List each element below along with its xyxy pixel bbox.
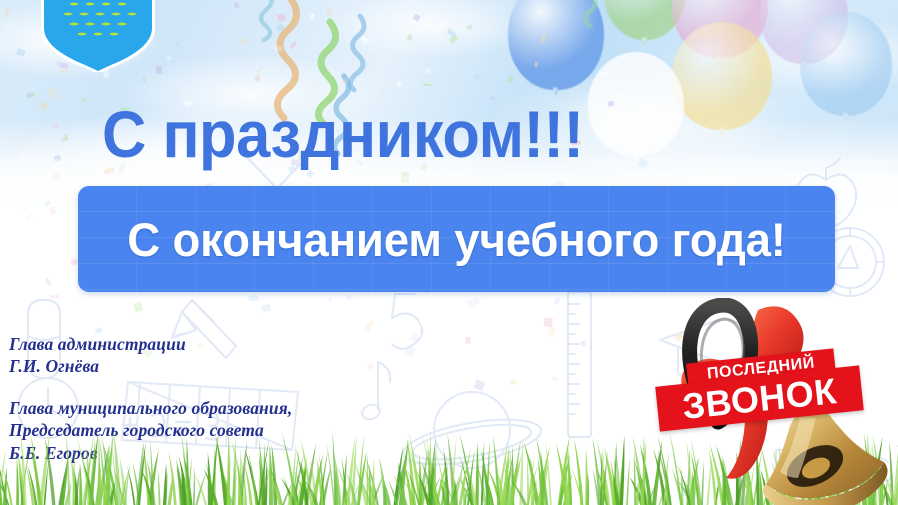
grass-blade bbox=[158, 468, 161, 505]
confetti-piece bbox=[638, 158, 649, 169]
page-title: С праздником!!! bbox=[102, 101, 583, 167]
confetti-piece bbox=[507, 76, 514, 83]
grass-blade bbox=[194, 473, 207, 505]
grass-blade bbox=[626, 457, 630, 505]
confetti-piece bbox=[367, 364, 373, 370]
grass-blade bbox=[193, 467, 195, 505]
grass-blade bbox=[620, 435, 625, 505]
banner-text: С окончанием учебного года! bbox=[89, 186, 823, 292]
confetti-piece bbox=[48, 87, 58, 99]
signature-group-1: Глава администрацииГ.И. Огнёва bbox=[9, 333, 292, 378]
confetti-piece bbox=[276, 24, 285, 32]
confetti-piece bbox=[608, 101, 615, 107]
confetti-piece bbox=[241, 37, 248, 45]
confetti-piece bbox=[473, 379, 485, 391]
confetti-piece bbox=[175, 41, 181, 47]
grass-blade bbox=[39, 434, 50, 505]
confetti-piece bbox=[546, 325, 557, 338]
confetti-piece bbox=[467, 297, 480, 307]
confetti-piece bbox=[52, 124, 58, 129]
confetti-piece bbox=[413, 14, 421, 21]
confetti-piece bbox=[277, 14, 286, 22]
confetti-piece bbox=[234, 2, 240, 8]
grass-blade bbox=[97, 462, 101, 505]
music-note-doodle bbox=[360, 362, 390, 422]
confetti-piece bbox=[39, 101, 48, 110]
confetti-piece bbox=[309, 13, 316, 20]
confetti-piece bbox=[425, 68, 432, 74]
ruler-doodle bbox=[568, 292, 591, 437]
confetti-piece bbox=[274, 45, 282, 52]
confetti-piece bbox=[401, 171, 410, 182]
poster-root: С праздником!!! С окончанием учебного го… bbox=[0, 0, 898, 505]
confetti-piece bbox=[256, 74, 260, 82]
grass-blade bbox=[163, 463, 167, 505]
confetti-piece bbox=[466, 24, 472, 30]
confetti-piece bbox=[49, 207, 57, 216]
globe-doodle bbox=[330, 300, 331, 301]
grass-blade bbox=[216, 436, 228, 505]
confetti-piece bbox=[82, 98, 88, 103]
confetti-piece bbox=[256, 67, 262, 73]
confetti-piece bbox=[4, 23, 10, 30]
grade-five-doodle bbox=[392, 294, 422, 349]
confetti-piece bbox=[473, 73, 480, 80]
confetti-piece bbox=[600, 71, 607, 77]
confetti-piece bbox=[534, 62, 538, 68]
coat-of-arms-emblem bbox=[41, 0, 155, 72]
confetti-piece bbox=[616, 91, 624, 99]
signature-line: Глава администрации bbox=[9, 333, 292, 355]
confetti-piece bbox=[411, 333, 418, 341]
confetti-piece bbox=[4, 7, 9, 17]
confetti-piece bbox=[541, 34, 547, 42]
confetti-piece bbox=[289, 41, 297, 49]
confetti-piece bbox=[403, 345, 416, 358]
confetti-piece bbox=[155, 66, 162, 75]
confetti-piece bbox=[342, 79, 347, 83]
confetti-piece bbox=[261, 304, 270, 312]
confetti-piece bbox=[133, 302, 143, 313]
confetti-piece bbox=[327, 8, 333, 16]
grass-blade bbox=[232, 438, 236, 505]
confetti-piece bbox=[50, 294, 60, 298]
confetti-piece bbox=[510, 379, 517, 385]
confetti-piece bbox=[395, 81, 402, 88]
confetti-piece bbox=[16, 48, 26, 56]
main-banner: С окончанием учебного года! bbox=[78, 186, 835, 292]
last-bell-badge-group: ПОСЛЕДНИЙ ЗВОНОК bbox=[640, 298, 898, 505]
confetti-piece bbox=[423, 83, 431, 86]
confetti-piece bbox=[552, 376, 558, 381]
grass-blade bbox=[574, 439, 583, 505]
confetti-piece bbox=[360, 35, 369, 45]
signature-line: Глава муниципального образования, bbox=[9, 397, 292, 419]
grass-blade bbox=[16, 457, 19, 505]
confetti-piece bbox=[407, 34, 413, 41]
confetti-piece bbox=[346, 294, 352, 301]
signature-line: Г.И. Огнёва bbox=[9, 355, 292, 377]
grass-blade bbox=[227, 433, 230, 505]
grass-blade bbox=[475, 442, 479, 505]
confetti-piece bbox=[249, 295, 259, 300]
confetti-piece bbox=[553, 297, 561, 305]
confetti-piece bbox=[142, 77, 146, 83]
confetti-piece bbox=[465, 337, 471, 344]
confetti-piece bbox=[45, 278, 52, 286]
confetti-piece bbox=[365, 320, 374, 332]
confetti-piece bbox=[581, 341, 586, 347]
confetti-piece bbox=[166, 55, 172, 61]
